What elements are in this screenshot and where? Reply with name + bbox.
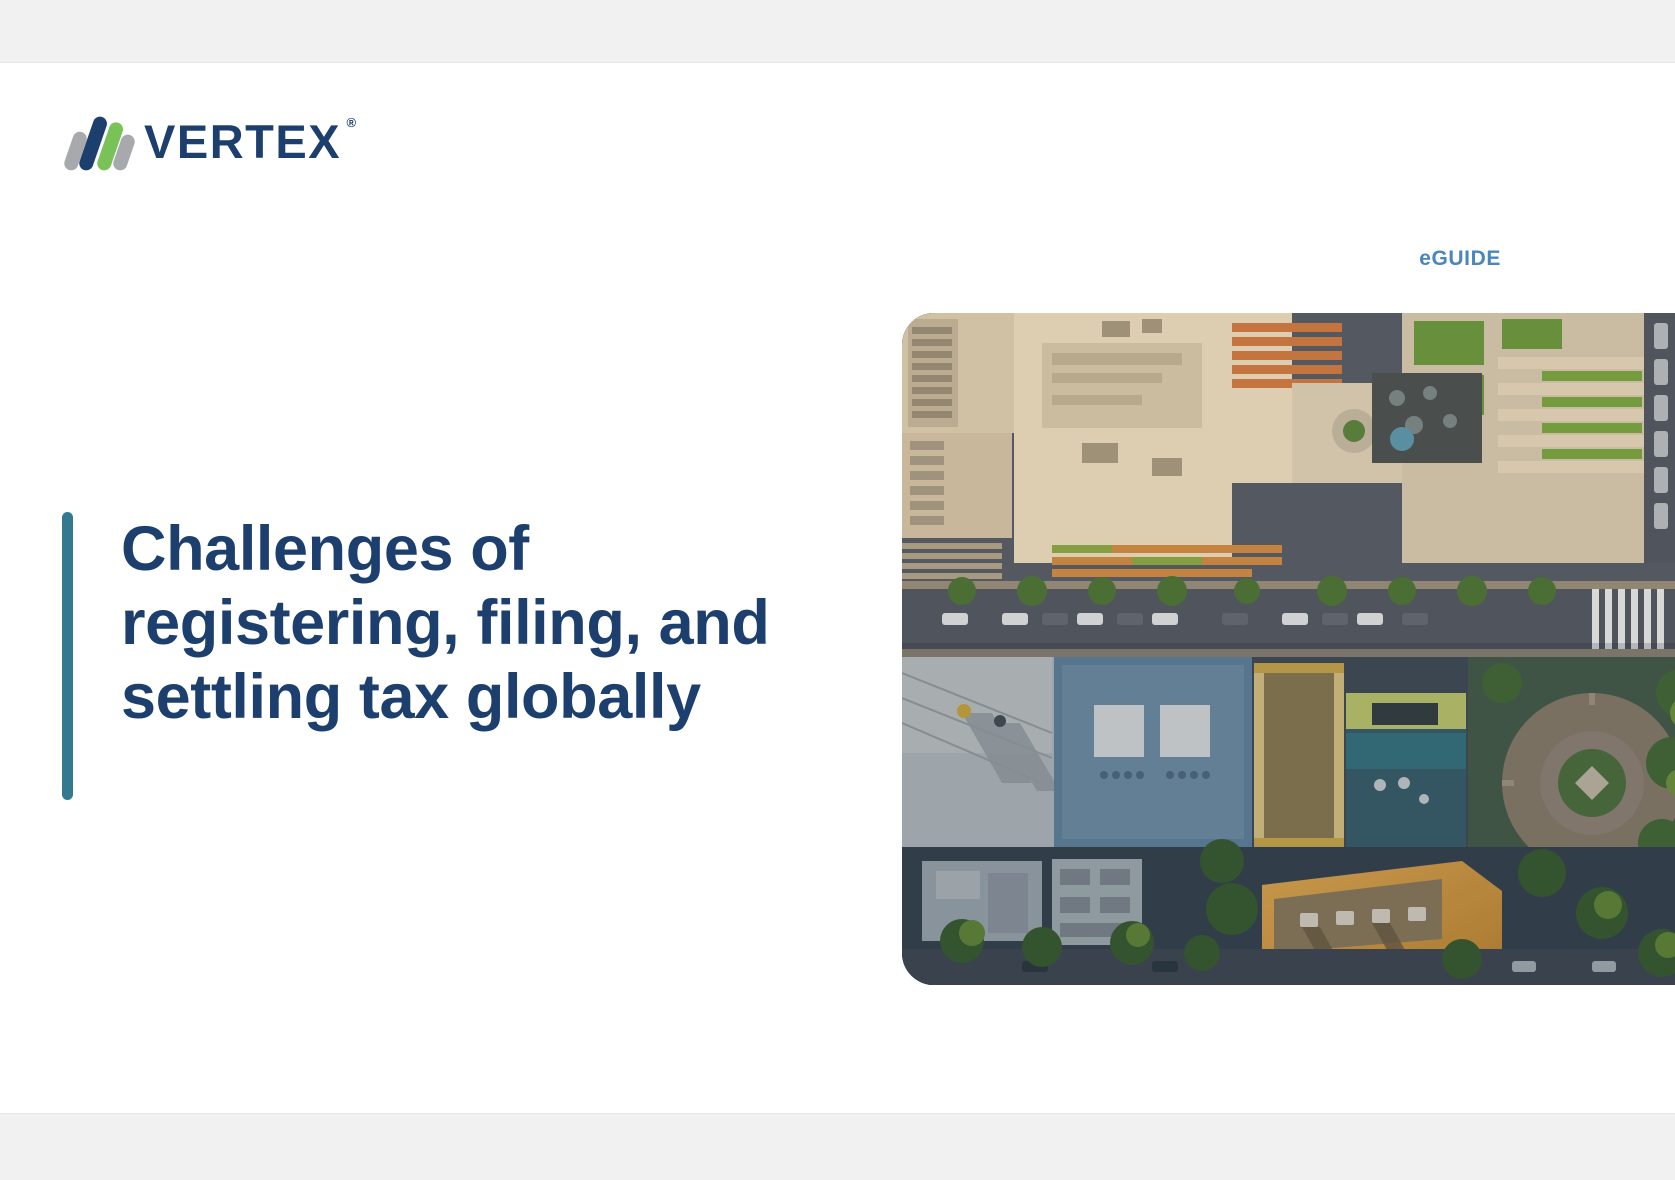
registered-trademark-icon: ®	[346, 116, 356, 129]
canvas-top-band	[0, 0, 1675, 63]
page-title-line-3: settling tax globally	[121, 660, 769, 734]
page-title: Challenges of registering, filing, and s…	[121, 512, 769, 800]
document-type-kicker: eGUIDE	[1419, 247, 1501, 271]
headline-accent-bar	[62, 512, 73, 800]
headline-block: Challenges of registering, filing, and s…	[62, 512, 769, 800]
page-title-line-2: registering, filing, and	[121, 586, 769, 660]
page-title-line-1: Challenges of	[121, 512, 769, 586]
page-canvas: VERTEX® eGUIDE Challenges of registering…	[0, 0, 1675, 1180]
vertex-logo[interactable]: VERTEX®	[62, 112, 341, 170]
document-page: VERTEX® eGUIDE Challenges of registering…	[0, 63, 1675, 1113]
aerial-city-photo-svg	[902, 313, 1675, 985]
vertex-logo-mark	[62, 112, 130, 170]
aerial-city-photo	[902, 313, 1675, 985]
vertex-wordmark: VERTEX®	[144, 118, 341, 165]
canvas-bottom-band	[0, 1113, 1675, 1180]
vertex-wordmark-text: VERTEX	[144, 115, 341, 168]
